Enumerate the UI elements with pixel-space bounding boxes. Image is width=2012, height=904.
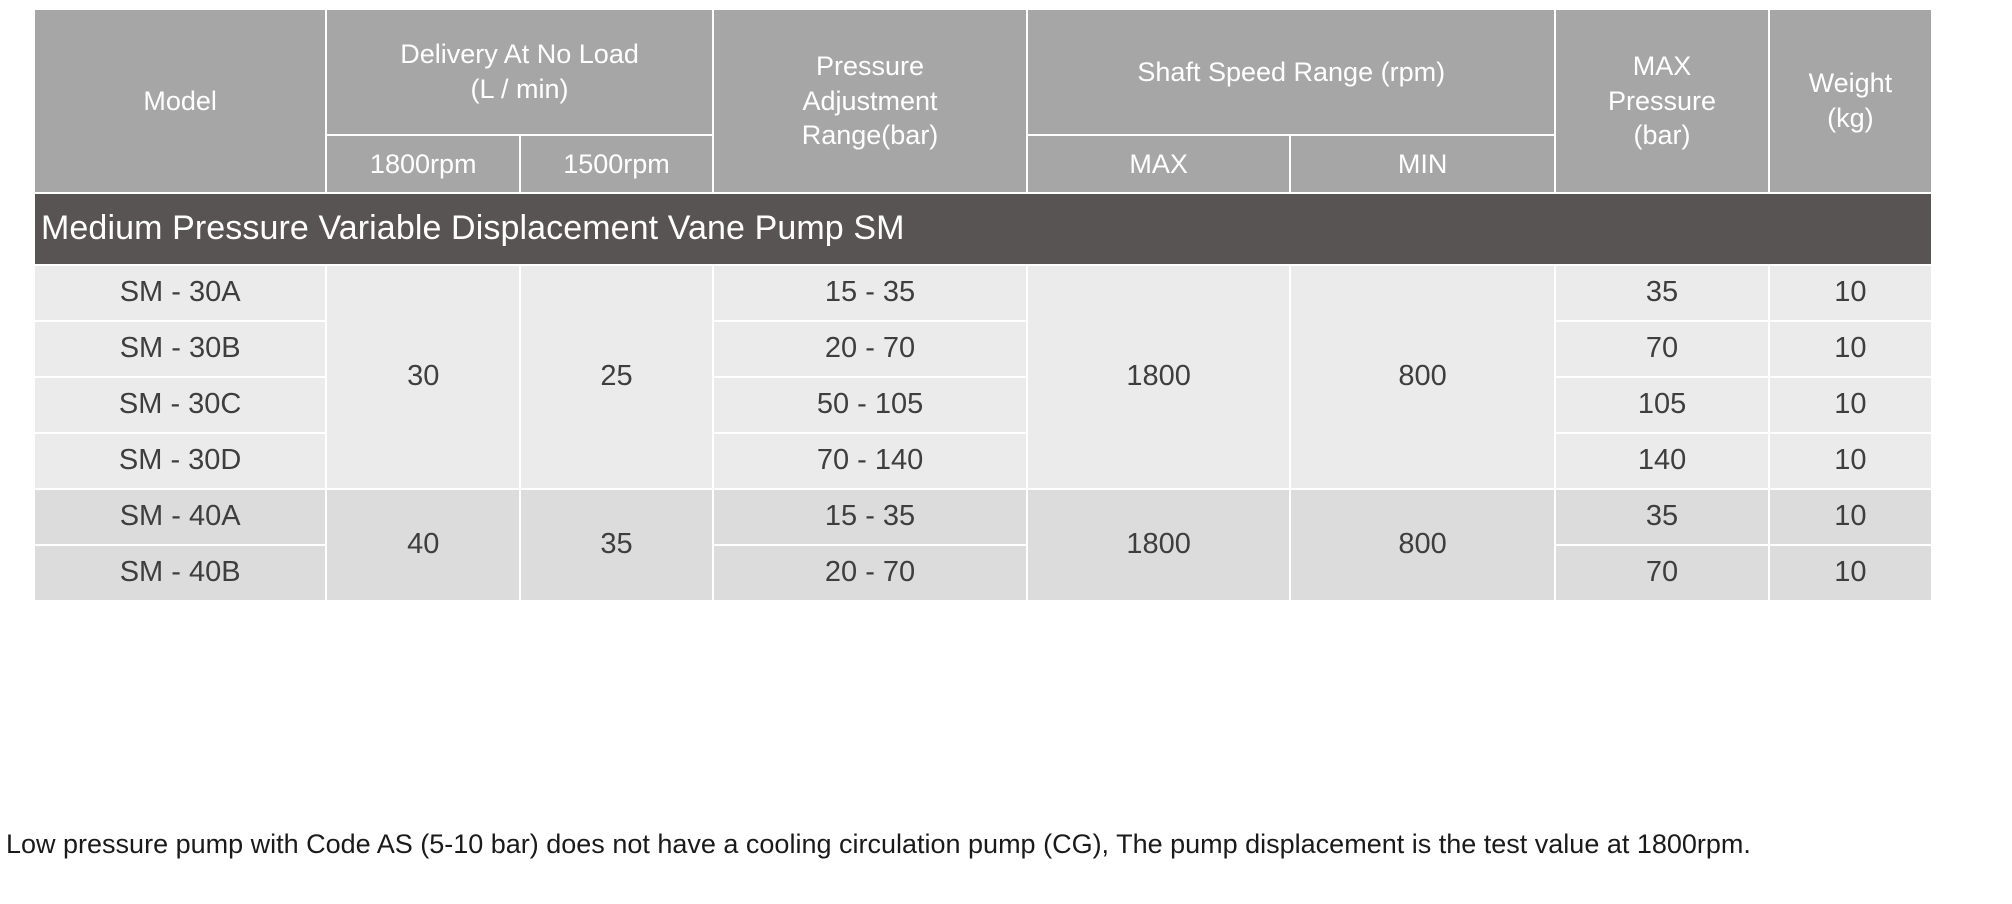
- cell-model: SM - 40B: [35, 546, 325, 600]
- header-cell-1800rpm: 1800rpm: [327, 136, 519, 192]
- cell-max-pressure: 35: [1556, 266, 1768, 320]
- table-row: SM - 30C 50 - 105 105 10: [35, 378, 1931, 432]
- spec-sheet-page: Model Delivery At No Load (L / min) Pres…: [0, 0, 2012, 904]
- cell-weight: 10: [1770, 546, 1931, 600]
- table-row: SM - 30B 20 - 70 70 10: [35, 322, 1931, 376]
- header-cell-1500rpm: 1500rpm: [521, 136, 712, 192]
- cell-pressure-adjustment-range: 70 - 140: [714, 434, 1026, 488]
- cell-max-pressure: 140: [1556, 434, 1768, 488]
- cell-model: SM - 30D: [35, 434, 325, 488]
- cell-pressure-adjustment-range: 15 - 35: [714, 490, 1026, 544]
- section-title-text: Medium Pressure Variable Displacement Va…: [41, 209, 905, 247]
- cell-weight: 10: [1770, 266, 1931, 320]
- cell-model: SM - 30A: [35, 266, 325, 320]
- cell-weight: 10: [1770, 434, 1931, 488]
- header-label-pressure-line3: Range(bar): [802, 120, 939, 150]
- header-cell-shaft-max: MAX: [1028, 136, 1289, 192]
- header-label-maxpress-line3: (bar): [1634, 120, 1691, 150]
- table-row: SM - 40A 40 35 15 - 35 1800 800 35 10: [35, 490, 1931, 544]
- section-title-banner: Medium Pressure Variable Displacement Va…: [35, 194, 1931, 264]
- header-label-shaft-speed: Shaft Speed Range (rpm): [1137, 57, 1445, 87]
- cell-delivery-1500rpm: 35: [521, 490, 712, 600]
- cell-pressure-adjustment-range: 50 - 105: [714, 378, 1026, 432]
- cell-delivery-1800rpm: 30: [327, 266, 519, 488]
- cell-shaft-speed-max: 1800: [1028, 490, 1289, 600]
- header-cell-weight: Weight (kg): [1770, 10, 1931, 192]
- header-label-maxpress-line2: Pressure: [1608, 86, 1716, 116]
- table-row: SM - 30A 30 25 15 - 35 1800 800 35 10: [35, 266, 1931, 320]
- cell-shaft-speed-min: 800: [1291, 490, 1554, 600]
- header-cell-shaft-min: MIN: [1291, 136, 1554, 192]
- cell-model: SM - 30C: [35, 378, 325, 432]
- table-row: SM - 30D 70 - 140 140 10: [35, 434, 1931, 488]
- section-title-row: Medium Pressure Variable Displacement Va…: [35, 194, 1931, 264]
- header-label-weight-line2: (kg): [1827, 103, 1874, 133]
- header-label-shaft-max: MAX: [1129, 149, 1188, 179]
- cell-max-pressure: 70: [1556, 546, 1768, 600]
- header-cell-model: Model: [35, 10, 325, 192]
- cell-weight: 10: [1770, 490, 1931, 544]
- header-label-pressure-line1: Pressure: [816, 51, 924, 81]
- cell-model: SM - 40A: [35, 490, 325, 544]
- header-label-delivery-line1: Delivery At No Load: [400, 39, 639, 69]
- table-row: SM - 40B 20 - 70 70 10: [35, 546, 1931, 600]
- header-cell-delivery-no-load: Delivery At No Load (L / min): [327, 10, 712, 134]
- header-cell-shaft-speed-range: Shaft Speed Range (rpm): [1028, 10, 1554, 134]
- cell-model: SM - 30B: [35, 322, 325, 376]
- cell-pressure-adjustment-range: 20 - 70: [714, 546, 1026, 600]
- header-label-delivery-line2: (L / min): [471, 74, 569, 104]
- cell-max-pressure: 35: [1556, 490, 1768, 544]
- cell-pressure-adjustment-range: 15 - 35: [714, 266, 1026, 320]
- cell-shaft-speed-min: 800: [1291, 266, 1554, 488]
- header-label-1500rpm: 1500rpm: [563, 149, 670, 179]
- header-cell-pressure-adjustment-range: Pressure Adjustment Range(bar): [714, 10, 1026, 192]
- header-label-maxpress-line1: MAX: [1633, 51, 1692, 81]
- cell-max-pressure: 105: [1556, 378, 1768, 432]
- cell-weight: 10: [1770, 322, 1931, 376]
- table-header-row-primary: Model Delivery At No Load (L / min) Pres…: [35, 10, 1931, 134]
- cell-shaft-speed-max: 1800: [1028, 266, 1289, 488]
- header-label-shaft-min: MIN: [1398, 149, 1448, 179]
- footnote-text: Low pressure pump with Code AS (5-10 bar…: [6, 828, 2006, 862]
- header-label-weight-line1: Weight: [1809, 68, 1893, 98]
- header-label-model: Model: [143, 86, 217, 116]
- header-cell-max-pressure: MAX Pressure (bar): [1556, 10, 1768, 192]
- cell-pressure-adjustment-range: 20 - 70: [714, 322, 1026, 376]
- cell-delivery-1500rpm: 25: [521, 266, 712, 488]
- header-label-pressure-line2: Adjustment: [802, 86, 937, 116]
- cell-max-pressure: 70: [1556, 322, 1768, 376]
- pump-specification-table: Model Delivery At No Load (L / min) Pres…: [33, 8, 1933, 602]
- header-label-1800rpm: 1800rpm: [370, 149, 477, 179]
- cell-delivery-1800rpm: 40: [327, 490, 519, 600]
- cell-weight: 10: [1770, 378, 1931, 432]
